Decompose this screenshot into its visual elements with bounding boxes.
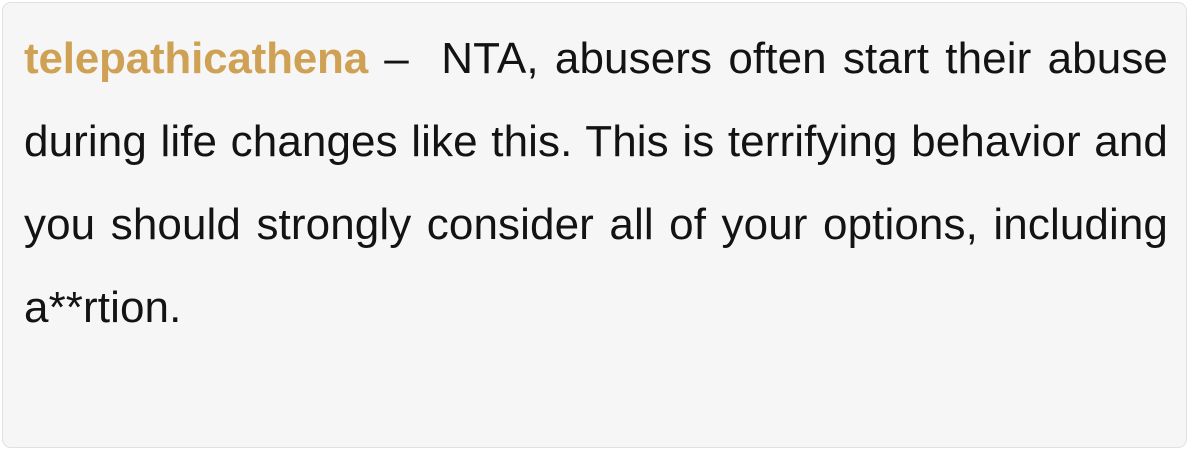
- screenshot-root: telepathicathena – NTA, abusers often st…: [0, 0, 1200, 458]
- username-text-separator: –: [368, 34, 441, 83]
- comment-body: telepathicathena – NTA, abusers often st…: [24, 17, 1168, 432]
- comment-card: telepathicathena – NTA, abusers often st…: [2, 2, 1187, 448]
- comment-username[interactable]: telepathicathena: [24, 34, 368, 83]
